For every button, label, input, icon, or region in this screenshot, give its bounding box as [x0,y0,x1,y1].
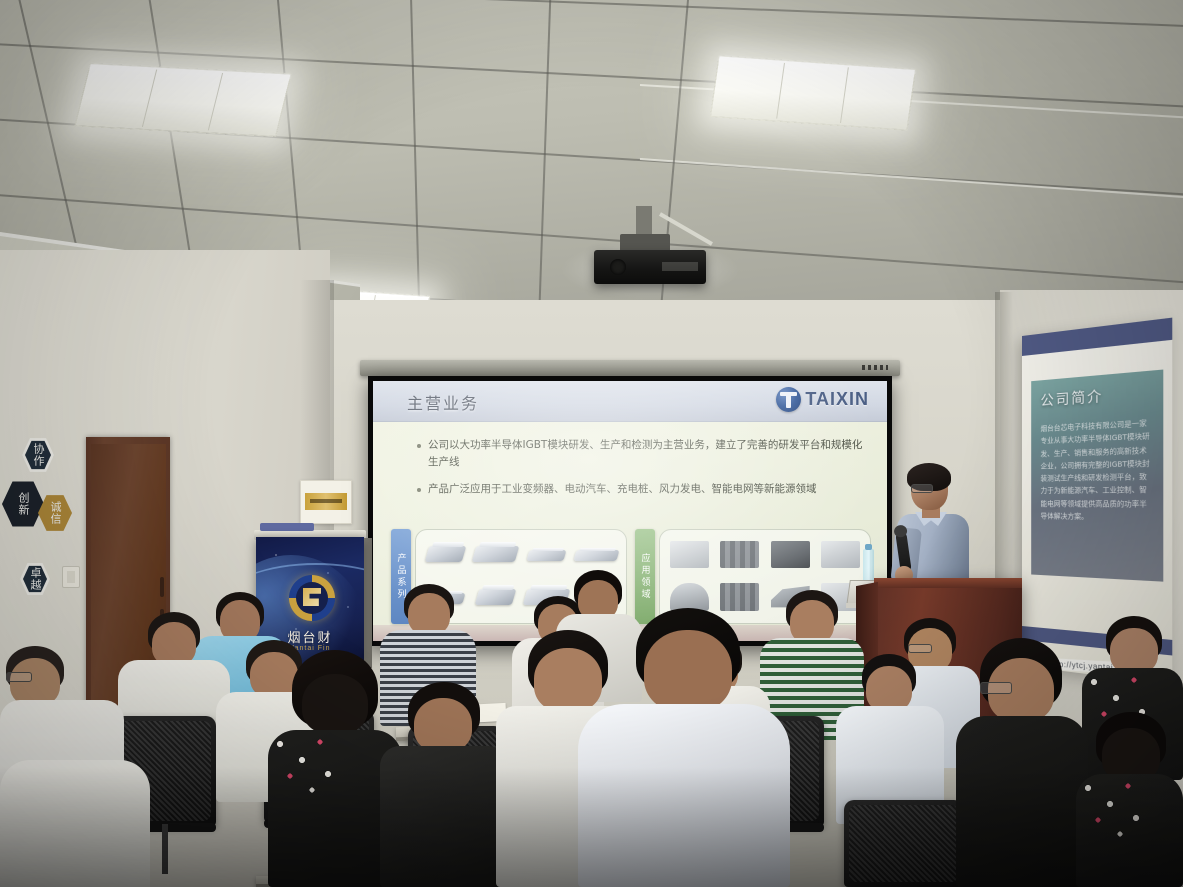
audience-torso [0,760,150,887]
audience-torso [956,716,1088,887]
ceiling-panel-light [74,63,291,137]
audience-head [414,698,472,752]
presenter-glasses-icon [911,484,933,493]
audience-glasses-icon [908,644,932,653]
audience-glasses-icon [6,672,32,682]
projector-label [662,262,698,271]
audience-member [578,608,790,887]
audience-torso [1076,774,1183,887]
screen-vent-dots [862,365,888,370]
taixin-wordmark: TAIXIN [805,389,869,410]
bullet-dot-icon [417,488,421,492]
wall-decal-label: 协作 [30,443,46,467]
application-thumb-charger [766,535,815,576]
right-banner-body: 烟台台芯电子科技有限公司是一家专业从事大功率半导体IGBT模块研发、生产、销售和… [1041,417,1153,524]
wall-decal-label: 创新 [15,492,31,516]
slide-bullet: 产品广泛应用于工业变频器、电动汽车、充电桩、风力发电、智能电网等新能源领域 [417,481,863,498]
application-thumb-misc [817,535,866,576]
wall-plaque [300,480,352,524]
audience-head [644,630,732,712]
product-thumb [421,535,470,576]
audience-member [956,638,1088,887]
audience-member [1076,712,1183,887]
bullet-dot-icon [417,444,421,448]
door-handle-icon[interactable] [160,577,164,597]
yantai-emblem-icon [289,575,335,621]
right-banner-heading: 公司简介 [1041,385,1104,410]
screen-housing [360,360,900,376]
slide-bullet-list: 公司以大功率半导体IGBT模块研发、生产和检测为主营业务，建立了完善的研发平台和… [417,437,863,507]
audience-glasses-icon [980,682,1012,694]
application-thumb-cabinet [716,535,765,576]
fire-sprinkler-head [848,277,857,290]
light-switch[interactable] [62,566,80,588]
audience-member [0,760,150,887]
product-thumb [472,535,521,576]
podium-top [874,578,1022,588]
audience-head [302,674,368,734]
audience-head [408,593,450,635]
slide-title: 主营业务 [407,390,479,414]
slide-bullet: 公司以大功率半导体IGBT模块研发、生产和检测为主营业务，建立了完善的研发平台和… [417,437,863,472]
taixin-emblem-icon [776,387,801,412]
wall-decal-label: 卓越 [27,567,43,591]
presenter-speaker [895,466,975,591]
audience-member [836,654,944,824]
audience-head [10,658,60,706]
wall-decal-label: 诚信 [47,501,63,525]
audience-torso [380,746,508,887]
audience-torso [578,704,790,887]
fire-sprinkler-head [254,160,263,173]
application-thumb-inverter [665,535,714,576]
chair-leg [162,824,168,874]
bullet-text: 产品广泛应用于工业变频器、电动汽车、充电桩、风力发电、智能电网等新能源领域 [428,481,863,498]
audience-chair[interactable] [844,800,964,887]
fire-sprinkler-head [950,152,959,165]
taixin-logo: TAIXIN [776,387,869,412]
projector-lens-icon [610,259,626,275]
audience-member [380,682,508,887]
bullet-text: 公司以大功率半导体IGBT模块研发、生产和检测为主营业务，建立了完善的研发平台和… [428,437,863,472]
banner-photo-block: 公司简介 烟台台芯电子科技有限公司是一家专业从事大功率半导体IGBT模块研发、生… [1031,370,1163,582]
ceiling-projector [594,250,706,284]
conference-room-photo: 协作 创新 诚信 卓越 主营业务 TAIXIN 公司以大功率半导体IGBT模 [0,0,1183,887]
